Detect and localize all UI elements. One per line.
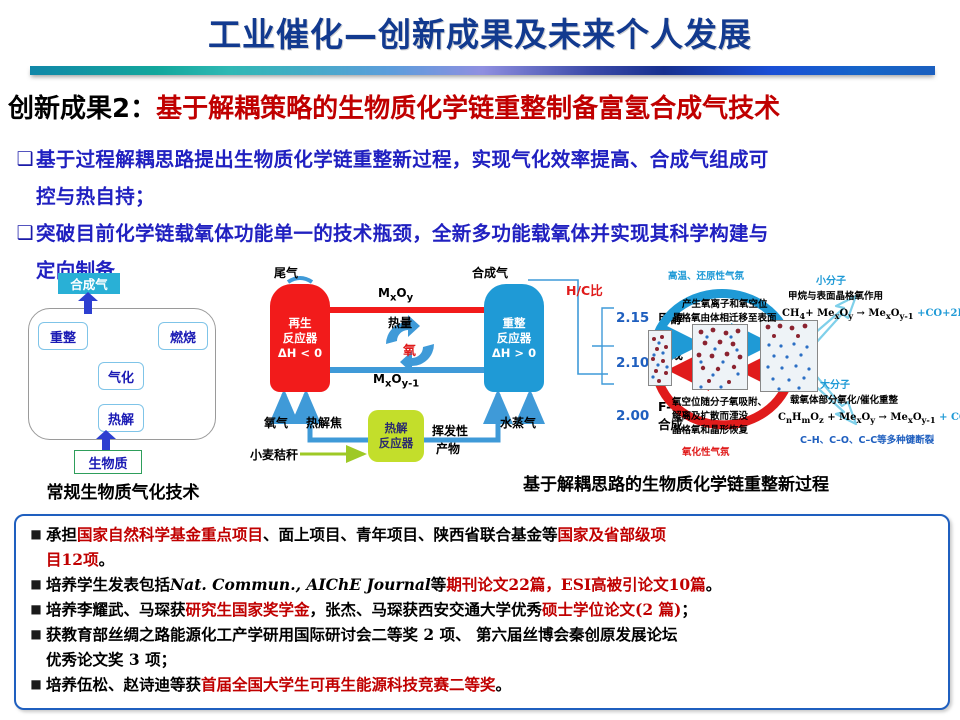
ach2-seg2: ，张杰、马琛获西安交通大学优秀 xyxy=(310,600,543,619)
figureC-oxygen-vacancy-term: 氧空位 xyxy=(672,397,701,408)
regen-name-line2: 反应器 xyxy=(283,331,318,346)
figureB-label-steam: 水蒸气 xyxy=(500,414,536,431)
achievement-item: ■ 承担国家自然科学基金重点项目、面上项目、青年项目、陕西省联合基金等国家及省部… xyxy=(16,522,948,572)
hc-value: 2.15 xyxy=(616,310,648,326)
filled-square-bullet-icon: ■ xyxy=(26,522,46,547)
figureA-node-pyrolysis: 热解 xyxy=(98,404,144,432)
lattice-block-surface xyxy=(760,320,818,392)
figureA-biomass-label: 生物质 xyxy=(74,450,142,474)
regen-name-line1: 再生 xyxy=(289,316,312,331)
ach2-seg1: 研究生国家奖学金 xyxy=(186,600,310,619)
figureC-label-lower-2: 解离及扩散而湮没 xyxy=(672,408,748,422)
ach0-seg5: 。 xyxy=(99,550,115,569)
pyro-name-line2: 反应器 xyxy=(379,436,414,451)
figureC-lattice-oxygen-rest: 由体相迁移至表面 xyxy=(701,313,777,324)
square-bullet-icon: ❑ xyxy=(14,216,36,250)
subheading-prefix: 创新成果2： xyxy=(8,94,156,124)
figureC-lattice-oxygen-term: 晶格氧 xyxy=(672,313,701,324)
ach1-seg0: 培养学生发表包括 xyxy=(46,575,170,594)
regen-enthalpy: ΔH < 0 xyxy=(278,346,322,361)
figureC-label-lower-3: 晶格氧和晶形恢复 xyxy=(672,422,748,436)
figureC-label-bottom-atmosphere: 氧化性气氛 xyxy=(682,444,730,458)
ach0-seg2: 、面上项目、青年项目、陕西省联合基金等 xyxy=(263,525,558,544)
ach1-seg1-journals: Nat. Commun., AIChE Journal xyxy=(170,575,431,594)
achievement-text: 培养伍松、赵诗迪等获首届全国大学生可再生能源科技竞赛二等奖。 xyxy=(46,672,511,697)
ach4-seg2: 。 xyxy=(496,675,512,694)
figure-conventional-gasification: 合成气 重整 燃烧 气化 热解 生物质 常规生物质气化技术 xyxy=(12,270,230,470)
ach4-seg1: 首届全国大学生可再生能源科技竞赛二等奖 xyxy=(201,675,496,694)
achievement-item: ■ 培养伍松、赵诗迪等获首届全国大学生可再生能源科技竞赛二等奖。 xyxy=(16,672,948,697)
ach0-seg1: 国家自然科学基金重点项目 xyxy=(77,525,263,544)
section-subheading: 创新成果2：基于解耦策略的生物质化学链重整制备富氢合成气技术 xyxy=(8,88,956,125)
ach4-seg0: 培养伍松、赵诗迪等获 xyxy=(46,675,201,694)
figure-row: 合成气 重整 燃烧 气化 热解 生物质 常规生物质气化技术 xyxy=(0,262,960,512)
figureC-small-molecule-title: 小分子 xyxy=(816,272,846,287)
figureA-node-gasification: 气化 xyxy=(98,362,144,390)
achievement-text: 培养李耀武、马琛获研究生国家奖学金，张杰、马琛获西安交通大学优秀硕士学位论文(2… xyxy=(46,597,697,622)
figureA-syngas-arrow-icon xyxy=(74,292,104,314)
filled-square-bullet-icon: ■ xyxy=(26,572,46,597)
figureB-label-reduced-carrier: MxOy-1 xyxy=(373,372,419,389)
figureB-label-pyrolysis-char: 热解焦 xyxy=(306,414,342,431)
figure-chemical-looping-process: 再生 反应器 ΔH < 0 重整 反应器 ΔH > 0 热解 反应器 尾气 合成… xyxy=(248,262,648,477)
figureB-label-oxidized-carrier: MxOy xyxy=(378,286,413,303)
figureB-label-wheat-straw: 小麦秸秆 xyxy=(250,446,298,463)
reform-name-line2: 反应器 xyxy=(497,331,532,346)
figureA-node-combustion: 燃烧 xyxy=(158,322,208,350)
achievement-item: ■ 培养李耀武、马琛获研究生国家奖学金，张杰、马琛获西安交通大学优秀硕士学位论文… xyxy=(16,597,948,622)
figureA-caption: 常规生物质气化技术 xyxy=(12,478,234,503)
ach0-seg3: 国家及省部级项 xyxy=(558,525,667,544)
figureC-label-upper-1: 产生氧离子和氧空位 xyxy=(682,296,768,310)
hc-value: 2.00 xyxy=(616,408,648,424)
lattice-block-migrating xyxy=(692,324,748,390)
figure-oxygen-carrier-mechanism: 高温、还原性气氛 产生氧离子和氧空位 晶格氧由体相迁移至表面 氧空位随分子氧吸附… xyxy=(648,268,956,468)
ach2-seg0: 培养李耀武、马琛获 xyxy=(46,600,186,619)
figureC-large-molecule-equation: CnHmOz + MexOy → MexOy-1 + CO+2H2 xyxy=(778,412,960,425)
reform-name-line1: 重整 xyxy=(503,316,526,331)
achievement-text: 获教育部丝绸之路能源化工产学研用国际研讨会二等奖 2 项、 第六届丝博会秦创原发… xyxy=(46,622,677,672)
lattice-block-bulk xyxy=(648,330,672,386)
achievement-item: ■ 培养学生发表包括Nat. Commun., AIChE Journal等期刊… xyxy=(16,572,948,597)
figureB-label-syngas: 合成气 xyxy=(472,264,508,281)
ach2-seg3: 硕士学位论文(2 篇) xyxy=(542,600,681,619)
figureA-biomass-arrow-icon xyxy=(92,430,122,452)
figureC-small-molecule-subtitle: 甲烷与表面晶格氧作用 xyxy=(788,288,883,302)
filled-square-bullet-icon: ■ xyxy=(26,622,46,647)
ach1-seg3: 期刊论文22篇，ESI高被引论文10篇 xyxy=(446,575,705,594)
figureB-caption: 基于解耦思路的生物质化学链重整新过程 xyxy=(466,470,886,495)
achievements-box: ■ 承担国家自然科学基金重点项目、面上项目、青年项目、陕西省联合基金等国家及省部… xyxy=(14,514,950,710)
bullet-item-continuation: 控与热自持； xyxy=(14,179,954,214)
figureB-label-oxygen-cycle: 氧 xyxy=(403,340,416,359)
figureB-label-oxygen-feed: 氧气 xyxy=(264,414,288,431)
bullet-item: ❑ 突破目前化学链载氧体功能单一的技术瓶颈，全新多功能载氧体并实现其科学构建与 xyxy=(14,216,954,251)
ach1-seg2: 等 xyxy=(431,575,447,594)
slide-root: 工业催化—创新成果及未来个人发展 创新成果2：基于解耦策略的生物质化学链重整制备… xyxy=(0,0,960,720)
ach3-seg1: 优秀论文奖 3 项； xyxy=(46,650,176,669)
bullet-text: 基于过程解耦思路提出生物质化学链重整新过程，实现气化效率提高、合成气组成可 xyxy=(36,142,769,177)
subheading-highlight: 基于解耦策略的生物质化学链重整制备富氢合成气技术 xyxy=(156,94,780,124)
ach1-seg4: 。 xyxy=(706,575,722,594)
ach0-seg4: 目12项 xyxy=(46,550,99,569)
ach0-seg0: 承担 xyxy=(46,525,77,544)
reform-enthalpy: ΔH > 0 xyxy=(492,346,536,361)
ach3-seg0: 获教育部丝绸之路能源化工产学研用国际研讨会二等奖 2 项、 第六届丝博会秦创原发… xyxy=(46,625,677,644)
figureC-oxygen-vacancy-rest: 随分子氧吸附、 xyxy=(701,397,768,408)
hc-value: 2.10 xyxy=(616,355,648,371)
figureC-large-molecule-subtitle: 载氧体部分氧化/催化重整 xyxy=(790,392,898,406)
figureA-node-reforming: 重整 xyxy=(38,322,88,350)
figureB-reforming-reactor: 重整 反应器 ΔH > 0 xyxy=(484,284,544,392)
figureA-syngas-label: 合成气 xyxy=(58,273,120,294)
figureB-label-tail-gas: 尾气 xyxy=(274,264,298,281)
filled-square-bullet-icon: ■ xyxy=(26,597,46,622)
figureC-label-top-atmosphere: 高温、还原性气氛 xyxy=(668,268,744,282)
square-bullet-icon: ❑ xyxy=(14,142,36,176)
figureC-bond-cleavage-note: C–H、C–O、C–C等多种键断裂 xyxy=(800,432,934,446)
figureB-label-volatiles-line2: 产物 xyxy=(436,440,460,457)
figureC-label-lower-1: 氧空位随分子氧吸附、 xyxy=(672,394,767,408)
achievement-item: ■ 获教育部丝绸之路能源化工产学研用国际研讨会二等奖 2 项、 第六届丝博会秦创… xyxy=(16,622,948,672)
figureB-label-volatiles-line1: 挥发性 xyxy=(432,422,468,439)
title-divider-bar xyxy=(30,66,935,75)
achievement-text: 承担国家自然科学基金重点项目、面上项目、青年项目、陕西省联合基金等国家及省部级项… xyxy=(46,522,666,572)
filled-square-bullet-icon: ■ xyxy=(26,672,46,697)
figureC-large-molecule-title: 大分子 xyxy=(820,376,850,391)
bullet-text: 突破目前化学链载氧体功能单一的技术瓶颈，全新多功能载氧体并实现其科学构建与 xyxy=(36,216,769,251)
figureC-small-molecule-equation: CH4+ MexOy → MexOy-1 +CO+2H2 xyxy=(782,308,960,321)
figureB-label-heat: 热量 xyxy=(388,314,412,331)
page-title: 工业催化—创新成果及未来个人发展 xyxy=(0,8,960,56)
achievement-text: 培养学生发表包括Nat. Commun., AIChE Journal等期刊论文… xyxy=(46,572,721,597)
bullet-item: ❑ 基于过程解耦思路提出生物质化学链重整新过程，实现气化效率提高、合成气组成可 xyxy=(14,142,954,177)
figureC-label-upper-2: 晶格氧由体相迁移至表面 xyxy=(672,310,777,324)
pyro-name-line1: 热解 xyxy=(385,421,408,436)
ach2-seg4: ； xyxy=(681,600,697,619)
figureB-regeneration-reactor: 再生 反应器 ΔH < 0 xyxy=(270,284,330,392)
figureB-pyrolysis-reactor: 热解 反应器 xyxy=(368,410,424,462)
bullet-text: 控与热自持； xyxy=(36,179,155,214)
